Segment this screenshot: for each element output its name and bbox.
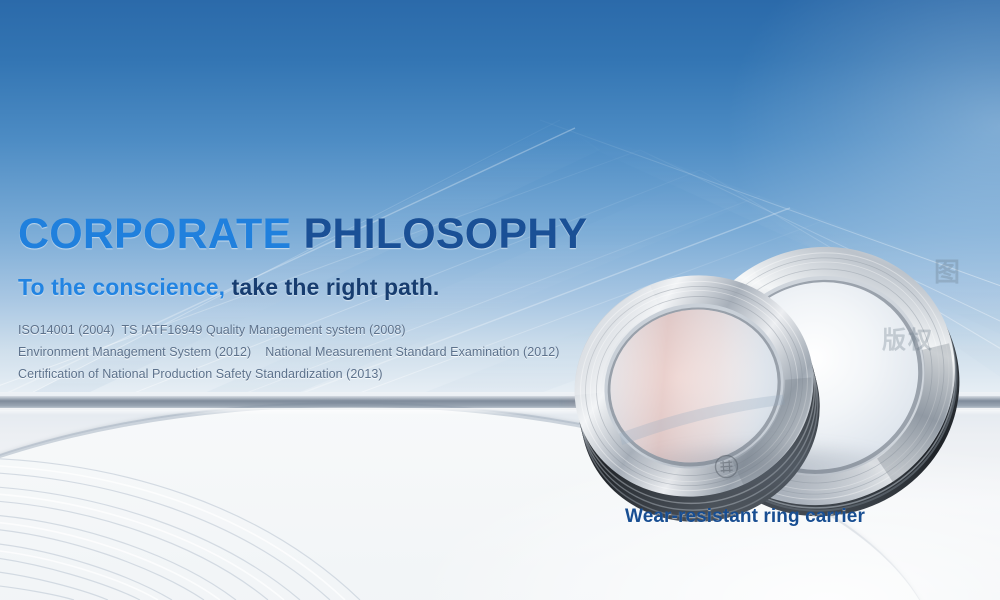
page-subtitle: To the conscience, take the right path. [18,274,638,301]
product-caption: Wear-resistant ring carrier [625,506,865,528]
certification-list: ISO14001 (2004) TS IATF16949 Quality Man… [18,319,638,385]
subtitle-primary: To the conscience, [18,274,225,300]
banner-copy: CORPORATE PHILOSOPHY To the conscience, … [18,212,638,385]
page-title: CORPORATE PHILOSOPHY [18,212,638,258]
subtitle-secondary: take the right path. [232,274,440,300]
headline-secondary: PHILOSOPHY [304,210,588,258]
certification-line: Environment Management System (2012) Nat… [18,341,638,363]
ring-drop-shadow [588,432,948,502]
certification-line: Certification of National Production Saf… [18,363,638,385]
corporate-philosophy-banner: 图 版权 CORPORATE PHILOSOPHY To the conscie… [0,0,1000,600]
certification-line: ISO14001 (2004) TS IATF16949 Quality Man… [18,319,638,341]
headline-primary: CORPORATE [18,210,291,258]
